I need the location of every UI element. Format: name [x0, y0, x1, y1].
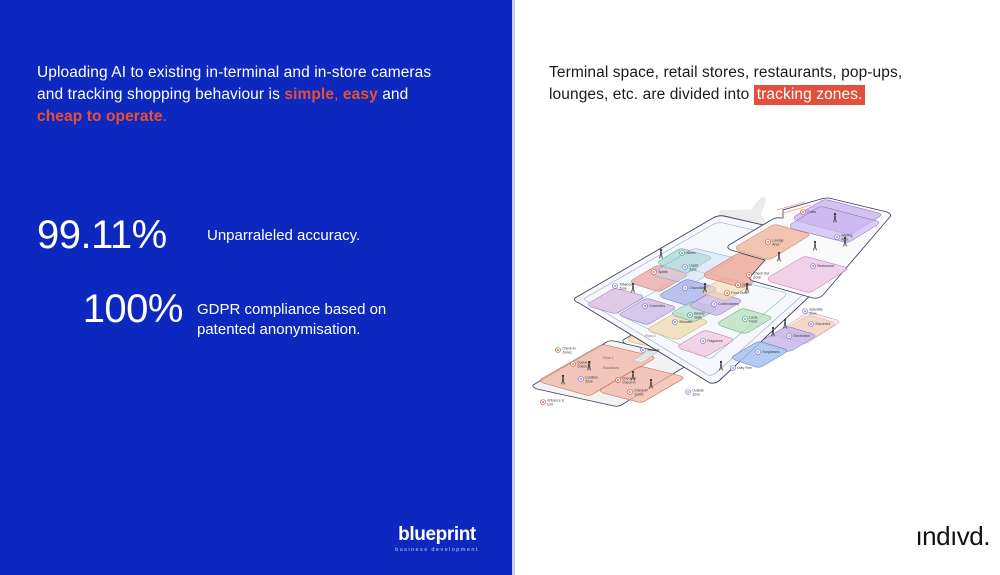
map-zone-gates[interactable]: Gates — [801, 210, 817, 215]
stat-value-gdpr: 100% — [37, 289, 197, 329]
map-pin-icon — [686, 390, 691, 395]
accent-phrase-cheap: cheap to operate — [37, 108, 163, 125]
map-zone-escalators[interactable]: Escalators — [603, 366, 619, 370]
map-zone-label: Drinks — [742, 283, 752, 287]
map-zone-label: Zone — [619, 286, 627, 290]
map-zone-drinks[interactable]: Drinks — [736, 283, 753, 288]
map-zone-label: Chocolate — [689, 286, 704, 290]
map-zone-wines[interactable]: Wines — [680, 251, 696, 256]
map-zone-label: Food — [749, 319, 757, 323]
map-svg: GatesWaitingAreaLoungeAreaRestaurantWine… — [515, 180, 1000, 490]
isometric-terminal-map[interactable]: GatesWaitingAreaLoungeAreaRestaurantWine… — [515, 180, 1000, 490]
map-zone-fragrance[interactable]: Fragrance — [701, 339, 723, 344]
map-zone-security[interactable]: Security — [641, 348, 660, 353]
map-zone-confectionery[interactable]: Confectionery — [712, 302, 740, 307]
map-zone-cosmetics[interactable]: Cosmetics — [643, 304, 666, 309]
lead-comma-1: , — [334, 86, 343, 103]
map-zone-label: Area — [841, 237, 848, 241]
map-zone-label: Sunglasses — [762, 350, 780, 354]
map-zone-sunglasses[interactable]: Sunglasses — [756, 350, 781, 355]
map-pin-icon — [579, 377, 584, 382]
map-pin-icon — [736, 283, 741, 288]
map-zone-label: Gates — [807, 210, 816, 214]
map-zone-label: Zone — [753, 275, 761, 279]
map-zone-label: Exit — [547, 402, 553, 406]
lead-conjunction: and — [378, 86, 409, 103]
map-zone-label: Fragrance — [707, 339, 723, 343]
map-zone-label: Zone — [585, 379, 593, 383]
map-zone-label: Electronics — [793, 334, 810, 338]
map-pin-icon — [541, 400, 546, 405]
map-zone-outside-zone[interactable]: OutsideZone — [686, 389, 704, 397]
right-headline: Terminal space, retail stores, restauran… — [549, 62, 964, 107]
lead-period: . — [163, 108, 167, 125]
map-pin-icon — [766, 240, 771, 245]
map-pin-icon — [616, 378, 621, 383]
map-zone-restaurant[interactable]: Restaurant — [811, 264, 834, 269]
right-white-panel: Terminal space, retail stores, restauran… — [515, 0, 1000, 575]
map-pin-icon — [801, 210, 806, 215]
indivd-logo: ındıvd. — [915, 523, 990, 549]
map-pin-icon — [701, 339, 706, 344]
map-pin-icon — [688, 313, 693, 318]
map-pin-icon — [683, 265, 688, 270]
map-pin-icon — [673, 320, 678, 325]
accent-word-easy: easy — [343, 86, 378, 103]
map-pin-icon — [835, 235, 840, 240]
map-pin-icon — [683, 286, 688, 291]
map-pin-icon — [680, 251, 685, 256]
map-zone-check-in-zones[interactable]: Check-inZones — [556, 347, 576, 355]
map-zone-label: Check-in — [577, 364, 590, 368]
map-zone-food-zone[interactable]: Food Zone — [725, 291, 748, 296]
left-blue-panel: Uploading AI to existing in-terminal and… — [0, 0, 512, 575]
map-zone-entrance-exit[interactable]: Entrance &Exit — [541, 399, 565, 407]
map-pin-icon — [641, 348, 646, 353]
blueprint-logo-tagline: business development — [387, 548, 487, 554]
map-pin-icon — [556, 348, 561, 353]
stat-row-accuracy: 99.11% Unparraleled accuracy. — [37, 215, 477, 255]
stat-label-gdpr: GDPR compliance based on patented anonym… — [197, 289, 447, 341]
map-pin-icon — [571, 362, 576, 367]
map-pin-icon — [756, 350, 761, 355]
map-zone-skincare[interactable]: Skincare — [673, 320, 693, 325]
map-zone-label: Zone — [809, 311, 817, 315]
map-pin-icon — [743, 317, 748, 322]
map-zone-label: Duty Free — [737, 366, 752, 370]
stats-block: 99.11% Unparraleled accuracy. 100% GDPR … — [37, 215, 477, 375]
map-pin-icon — [811, 264, 816, 269]
map-pin-icon — [652, 270, 657, 275]
map-zone-chocolate[interactable]: Chocolate — [683, 286, 705, 291]
map-zone-label: Zones — [562, 350, 572, 354]
map-pin-icon — [712, 302, 717, 307]
stat-label-accuracy: Unparraleled accuracy. — [207, 215, 360, 246]
map-zone-label: Escalators — [603, 366, 619, 370]
map-zone-label: Cosmetics — [649, 304, 665, 308]
accent-word-simple: simple — [284, 86, 334, 103]
map-pin-icon — [725, 291, 730, 296]
map-zone-electronics[interactable]: Electronics — [787, 334, 811, 339]
map-zone-label: Wines — [686, 251, 696, 255]
tracking-zones-highlight: tracking zones. — [754, 85, 866, 105]
map-pin-icon — [628, 390, 633, 395]
map-pin-icon — [747, 273, 752, 278]
map-zone-label: Check-in — [622, 380, 635, 384]
map-pin-icon — [803, 309, 808, 314]
map-pin-icon — [643, 304, 648, 309]
map-zone-label: Floor 1 — [603, 356, 614, 360]
map-pin-icon — [731, 366, 736, 371]
map-zone-label: Zones — [634, 392, 644, 396]
map-zone-spirits[interactable]: Spirits — [652, 270, 668, 275]
map-zone-label: Area — [772, 242, 779, 246]
map-pin-icon — [613, 284, 618, 289]
map-zone-label: Suite — [694, 315, 702, 319]
stat-value-accuracy: 99.11% — [37, 215, 197, 255]
blueprint-logo: blueprint business development — [387, 525, 487, 554]
map-pin-icon — [809, 322, 814, 327]
map-zone-label: Food Zone — [731, 291, 748, 295]
map-zone-label: Spirits — [658, 270, 668, 274]
map-pin-icon — [787, 334, 792, 339]
map-zone-label: Zone — [689, 267, 697, 271]
map-zone-label: Confectionery — [718, 302, 739, 306]
lead-paragraph: Uploading AI to existing in-terminal and… — [37, 62, 457, 128]
map-zone-souvenirs[interactable]: Souvenirs — [809, 322, 831, 327]
blueprint-logo-name: blueprint — [387, 525, 487, 544]
map-zone-label: Floor 2 — [645, 334, 656, 338]
map-zone-label: Skincare — [679, 320, 692, 324]
map-zone-label: Security — [647, 348, 660, 352]
slide-root: Uploading AI to existing in-terminal and… — [0, 0, 1000, 575]
map-zone-label: Zone — [692, 392, 700, 396]
map-zone-duty-free[interactable]: Duty Free — [731, 366, 753, 371]
map-zone-floor-2[interactable]: Floor 2 — [645, 334, 656, 338]
map-zone-floor-1[interactable]: Floor 1 — [603, 356, 614, 360]
stat-row-gdpr: 100% GDPR compliance based on patented a… — [37, 289, 477, 341]
map-zone-label: Souvenirs — [815, 322, 830, 326]
map-zone-label: Restaurant — [817, 264, 834, 268]
